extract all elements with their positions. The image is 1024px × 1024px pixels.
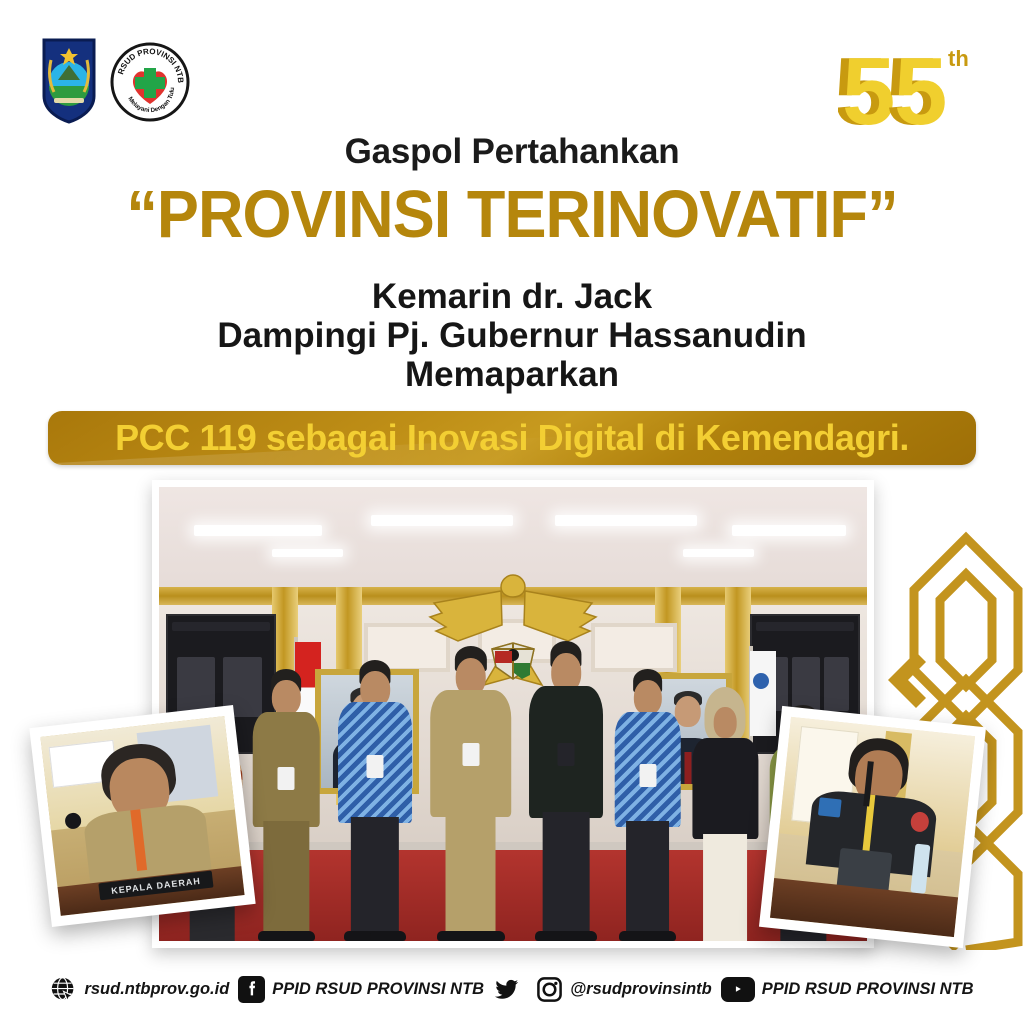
person-3 xyxy=(336,660,414,941)
main-photo-scene xyxy=(159,487,867,941)
anniversary-55th-logo: 5 5 5 5 th xyxy=(838,28,988,138)
instagram-icon xyxy=(536,976,563,1003)
headline-subtitle: Kemarin dr. Jack Dampingi Pj. Gubernur H… xyxy=(0,277,1024,395)
poster-canvas: RSUD PROVINSI NTB Melayani Dengan Tulus … xyxy=(0,0,1024,1024)
headline-kicker: Gaspol Pertahankan xyxy=(0,132,1024,172)
headline-sub-line-2: Dampingi Pj. Gubernur Hassanudin xyxy=(0,316,1024,355)
rsud-provinsi-ntb-logo-icon: RSUD PROVINSI NTB Melayani Dengan Tulus … xyxy=(110,42,190,122)
inset-photo-right-image xyxy=(770,717,975,937)
twitter-icon xyxy=(493,976,520,1003)
person-5 xyxy=(527,641,605,941)
footer-social-bar: rsud.ntbprov.go.id PPID RSUD PROVINSI NT… xyxy=(0,968,1024,1010)
youtube-icon xyxy=(721,977,755,1002)
footer-item-instagram[interactable]: @rsudprovinsintb xyxy=(536,976,712,1003)
inset-photo-left: KEPALA DAERAH xyxy=(29,705,255,927)
headline-sub-line-1: Kemarin dr. Jack xyxy=(0,277,1024,316)
page-title: “PROVINSI TERINOVATIF” xyxy=(31,176,994,253)
globe-icon xyxy=(50,976,77,1003)
footer-item-twitter[interactable] xyxy=(493,976,527,1003)
highlight-banner: PCC 119 sebagai Inovasi Digital di Kemen… xyxy=(48,411,976,465)
facebook-icon xyxy=(238,976,265,1003)
footer-item-facebook[interactable]: PPID RSUD PROVINSI NTB xyxy=(238,976,484,1003)
person-2 xyxy=(251,669,322,941)
footer-item-youtube[interactable]: PPID RSUD PROVINSI NTB xyxy=(721,977,974,1002)
header-logos: RSUD PROVINSI NTB Melayani Dengan Tulus … xyxy=(38,36,190,124)
inset-photo-right xyxy=(759,706,986,948)
highlight-banner-text: PCC 119 sebagai Inovasi Digital di Kemen… xyxy=(115,417,909,459)
person-4-governor xyxy=(428,646,513,941)
inset-right-desk xyxy=(770,878,958,938)
footer-instagram-label: @rsudprovinsintb xyxy=(570,980,712,999)
headline-sub-line-3: Memaparkan xyxy=(0,355,1024,394)
svg-text:th: th xyxy=(948,46,969,71)
svg-text:5: 5 xyxy=(894,38,947,138)
person-6 xyxy=(612,669,683,941)
footer-website-label: rsud.ntbprov.go.id xyxy=(84,980,229,999)
person-7 xyxy=(690,687,761,941)
inset-photo-left-image: KEPALA DAERAH xyxy=(40,716,244,916)
footer-youtube-label: PPID RSUD PROVINSI NTB xyxy=(762,980,974,999)
footer-facebook-label: PPID RSUD PROVINSI NTB xyxy=(272,980,484,999)
footer-item-website[interactable]: rsud.ntbprov.go.id xyxy=(50,976,229,1003)
ntb-province-emblem-icon xyxy=(38,36,100,124)
